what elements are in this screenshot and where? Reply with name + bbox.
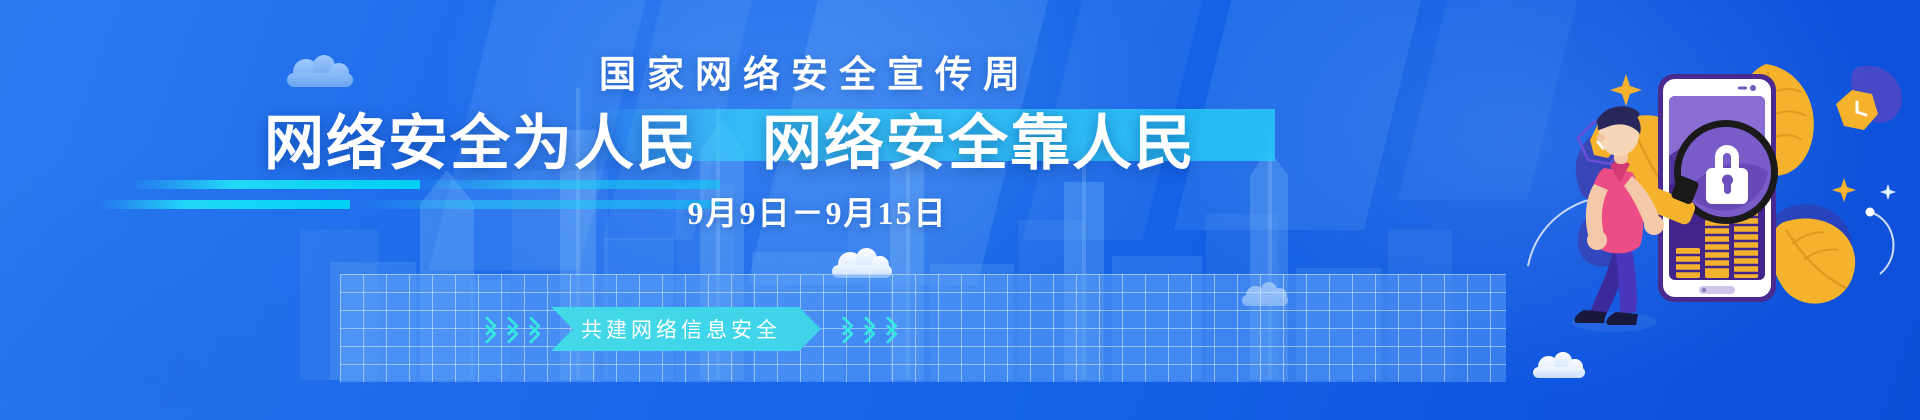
chevron-right-icon bbox=[500, 316, 515, 342]
slogan-ribbon-tag: 共建网络信息安全 bbox=[551, 307, 821, 351]
slogan-ribbon-row: 共建网络信息安全 bbox=[478, 298, 894, 360]
chevron-right-icon bbox=[835, 316, 850, 342]
banner-text-block: 国家网络安全宣传周 网络安全为人民 网络安全靠人民 9月9日－9月15日 bbox=[0, 0, 1300, 270]
headline-part-2: 网络安全靠人民 bbox=[762, 111, 1196, 177]
chevron-group-left bbox=[478, 316, 537, 342]
chevron-right-icon bbox=[522, 316, 537, 342]
cybersecurity-week-banner: 国家网络安全宣传周 网络安全为人民 网络安全靠人民 9月9日－9月15日 共建网… bbox=[0, 0, 1920, 420]
chevron-group-right bbox=[835, 316, 894, 342]
banner-subtitle: 国家网络安全宣传周 bbox=[0, 44, 1300, 98]
orbit-dot bbox=[1866, 208, 1875, 217]
banner-headline-wrap: 网络安全为人民 网络安全靠人民 bbox=[0, 95, 1300, 182]
chevron-right-icon bbox=[857, 316, 872, 342]
clock-badge-icon bbox=[1836, 90, 1878, 130]
banner-headline: 网络安全为人民 网络安全靠人民 bbox=[264, 95, 1196, 182]
star-decoration bbox=[1880, 184, 1896, 200]
orbit-arc-decoration bbox=[1870, 212, 1893, 274]
star-decoration bbox=[1832, 178, 1856, 202]
chevron-right-icon bbox=[478, 316, 493, 342]
chevron-right-icon bbox=[879, 316, 894, 342]
slogan-ribbon-label: 共建网络信息安全 bbox=[581, 314, 781, 344]
headline-part-1: 网络安全为人民 bbox=[264, 111, 698, 177]
banner-date-range: 9月9日－9月15日 bbox=[0, 188, 1300, 234]
cyber-security-illustration bbox=[1570, 60, 1910, 350]
cloud-icon bbox=[1531, 352, 1587, 378]
star-decoration bbox=[1610, 74, 1642, 106]
